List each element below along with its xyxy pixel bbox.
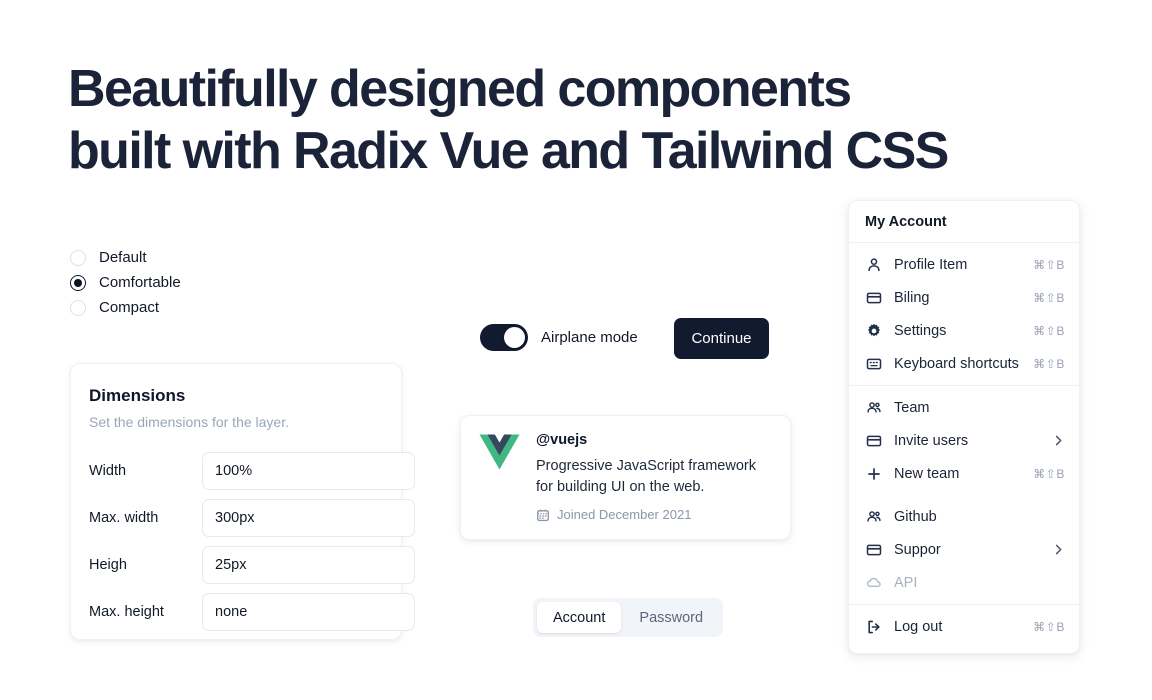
vuejs-hover-card: @vuejs Progressive JavaScript framework … (460, 415, 791, 540)
dimensions-row-max-height: Max. height (89, 588, 383, 635)
max-width-input[interactable] (202, 499, 415, 537)
height-input[interactable] (202, 546, 415, 584)
menu-group-team: Team Invite users (849, 386, 1079, 495)
radio-option-label: Default (99, 249, 147, 266)
menu-item-label: Settings (894, 323, 1033, 339)
menu-item-shortcut: ⌘⇧B (1033, 258, 1065, 272)
keyboard-icon (865, 355, 882, 372)
menu-item-settings[interactable]: Settings ⌘⇧B (849, 314, 1079, 347)
credit-card-icon (865, 432, 882, 449)
menu-item-new-team[interactable]: New team ⌘⇧B (849, 457, 1079, 490)
field-label: Width (89, 463, 202, 479)
radio-option-comfortable[interactable]: Comfortable (70, 270, 300, 295)
page-title: Beautifully designed components built wi… (68, 58, 1028, 182)
menu-item-label: Team (894, 400, 1065, 416)
credit-card-icon (865, 541, 882, 558)
radio-group: Default Comfortable Compact (70, 245, 300, 320)
page-root: Beautifully designed components built wi… (0, 0, 1152, 700)
tab-password[interactable]: Password (623, 602, 719, 633)
toggle-knob (504, 327, 525, 348)
airplane-mode-switch-row: Airplane mode (480, 324, 638, 351)
page-title-line-1: Beautifully designed components (68, 58, 1028, 120)
max-height-input[interactable] (202, 593, 415, 631)
radio-icon[interactable] (70, 250, 86, 266)
menu-item-log-out[interactable]: Log out ⌘⇧B (849, 610, 1079, 643)
tabs: Account Password (533, 598, 723, 637)
hover-card-handle: @vuejs (536, 432, 772, 448)
menu-item-shortcut: ⌘⇧B (1033, 357, 1065, 371)
menu-item-label: API (894, 575, 1065, 591)
menu-item-label: Suppor (894, 542, 1052, 558)
menu-group-account: Profile Item ⌘⇧B Biling ⌘⇧B (849, 243, 1079, 385)
user-icon (865, 256, 882, 273)
chevron-right-icon (1052, 543, 1065, 556)
radio-option-label: Comfortable (99, 274, 181, 291)
field-label: Max. height (89, 604, 202, 620)
dimensions-row-width: Width (89, 447, 383, 494)
radio-icon[interactable] (70, 300, 86, 316)
cloud-icon (865, 574, 882, 591)
menu-item-github[interactable]: Github (849, 500, 1079, 533)
hover-card-body: @vuejs Progressive JavaScript framework … (536, 432, 772, 523)
tab-account[interactable]: Account (537, 602, 621, 633)
radio-icon-selected[interactable] (70, 275, 86, 291)
continue-button[interactable]: Continue (674, 318, 769, 359)
menu-group-session: Log out ⌘⇧B (849, 605, 1079, 648)
hover-card-joined: Joined December 2021 (536, 507, 772, 522)
account-dropdown-menu: My Account Profile Item ⌘⇧B (848, 200, 1080, 654)
dimensions-title: Dimensions (89, 386, 383, 406)
radio-option-default[interactable]: Default (70, 245, 300, 270)
joined-text: Joined December 2021 (557, 507, 691, 522)
width-input[interactable] (202, 452, 415, 490)
menu-item-label: Log out (894, 619, 1033, 635)
menu-item-profile[interactable]: Profile Item ⌘⇧B (849, 248, 1079, 281)
menu-item-keyboard-shortcuts[interactable]: Keyboard shortcuts ⌘⇧B (849, 347, 1079, 380)
menu-item-label: Profile Item (894, 257, 1033, 273)
gear-icon (865, 322, 882, 339)
radio-option-compact[interactable]: Compact (70, 295, 300, 320)
menu-item-label: Invite users (894, 433, 1052, 449)
menu-item-shortcut: ⌘⇧B (1033, 620, 1065, 634)
menu-item-billing[interactable]: Biling ⌘⇧B (849, 281, 1079, 314)
plus-icon (865, 465, 882, 482)
credit-card-icon (865, 289, 882, 306)
users-icon (865, 399, 882, 416)
field-label: Max. width (89, 510, 202, 526)
field-label: Heigh (89, 557, 202, 573)
menu-item-label: Keyboard shortcuts (894, 356, 1033, 372)
dimensions-row-height: Heigh (89, 541, 383, 588)
menu-item-shortcut: ⌘⇧B (1033, 291, 1065, 305)
menu-item-api: API (849, 566, 1079, 599)
vue-logo-icon (479, 434, 520, 471)
menu-item-team[interactable]: Team (849, 391, 1079, 424)
menu-group-resources: Github Suppor (849, 495, 1079, 604)
menu-item-label: Biling (894, 290, 1033, 306)
dimensions-row-max-width: Max. width (89, 494, 383, 541)
radio-option-label: Compact (99, 299, 159, 316)
chevron-right-icon (1052, 434, 1065, 447)
menu-header: My Account (849, 201, 1079, 242)
airplane-mode-toggle[interactable] (480, 324, 528, 351)
calendar-icon (536, 508, 550, 522)
dimensions-subtitle: Set the dimensions for the layer. (89, 414, 383, 430)
users-icon (865, 508, 882, 525)
hover-card-description: Progressive JavaScript framework for bui… (536, 456, 772, 498)
menu-item-shortcut: ⌘⇧B (1033, 467, 1065, 481)
dimensions-card: Dimensions Set the dimensions for the la… (70, 363, 402, 640)
menu-item-label: New team (894, 466, 1033, 482)
menu-item-label: Github (894, 509, 1065, 525)
menu-item-invite-users[interactable]: Invite users (849, 424, 1079, 457)
airplane-mode-label: Airplane mode (541, 329, 638, 346)
menu-item-shortcut: ⌘⇧B (1033, 324, 1065, 338)
page-title-line-2: built with Radix Vue and Tailwind CSS (68, 120, 1028, 182)
logout-icon (865, 618, 882, 635)
menu-item-support[interactable]: Suppor (849, 533, 1079, 566)
dimensions-field-list: Width Max. width Heigh Max. height (89, 447, 383, 635)
